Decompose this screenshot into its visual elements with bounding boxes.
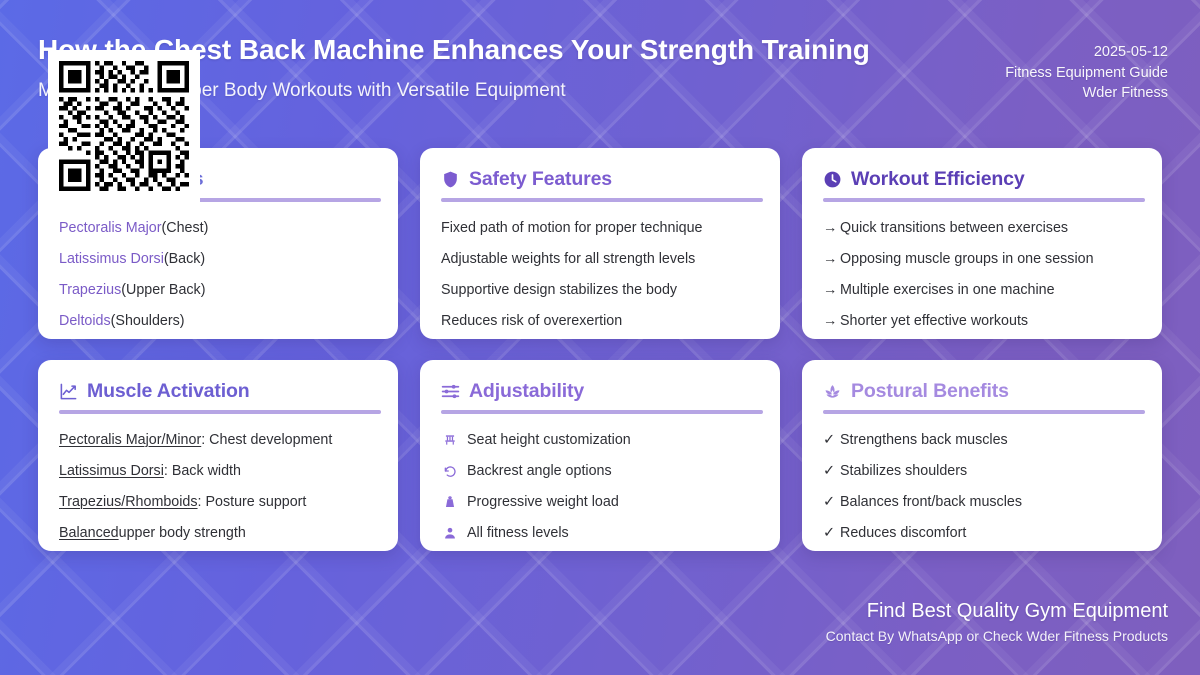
header-date: 2025-05-12 xyxy=(1005,42,1168,63)
list-item-text: : Posture support xyxy=(198,487,307,518)
person-icon xyxy=(441,524,459,542)
header-category: Fitness Equipment Guide xyxy=(1005,63,1168,84)
card-title: Safety Features xyxy=(469,168,612,191)
poster-header: How the Chest Back Machine Enhances Your… xyxy=(38,32,1168,104)
list-item-marker: → xyxy=(823,213,840,244)
list-item-marker: ✓ xyxy=(823,425,840,456)
list-item: Trapezius (Upper Back) xyxy=(59,275,377,306)
card-title-rule xyxy=(823,198,1145,202)
list-item: ✓Stabilizes shoulders xyxy=(823,456,1141,487)
list-item: Fixed path of motion for proper techniqu… xyxy=(441,213,759,244)
list-item: ✓Balances front/back muscles xyxy=(823,487,1141,518)
list-item-lead: Pectoralis Major xyxy=(59,213,162,244)
card-adjustability: AdjustabilitySeat height customizationBa… xyxy=(420,360,780,551)
list-item-text: : Back width xyxy=(164,456,241,487)
list-item-text: (Back) xyxy=(164,244,205,275)
list-item: Deltoids (Shoulders) xyxy=(59,306,377,337)
card-header: Workout Efficiency xyxy=(823,168,1141,191)
list-item-text: Adjustable weights for all strength leve… xyxy=(441,244,695,275)
seat-icon xyxy=(441,431,459,449)
list-item-text: (Chest) xyxy=(162,213,209,244)
card-item-list: Pectoralis Major (Chest)Latissimus Dorsi… xyxy=(59,213,377,337)
list-item-lead: Pectoralis Major/Minor xyxy=(59,425,201,456)
footer-primary-text: Find Best Quality Gym Equipment xyxy=(826,598,1168,624)
list-item: →Shorter yet effective workouts xyxy=(823,306,1141,337)
card-item-list: ✓Strengthens back muscles✓Stabilizes sho… xyxy=(823,425,1141,549)
list-item-text: Stabilizes shoulders xyxy=(840,456,967,487)
list-item-text: Strengthens back muscles xyxy=(840,425,1008,456)
card-title: Muscle Activation xyxy=(87,380,250,403)
list-item-marker: ✓ xyxy=(823,487,840,518)
list-item-marker: ✓ xyxy=(823,456,840,487)
list-item: →Quick transitions between exercises xyxy=(823,213,1141,244)
qr-code-icon xyxy=(59,61,189,191)
list-item-lead: Trapezius xyxy=(59,275,121,306)
card-header: Safety Features xyxy=(441,168,759,191)
card-item-list: Pectoralis Major/Minor: Chest developmen… xyxy=(59,425,377,549)
card-title: Workout Efficiency xyxy=(851,168,1025,191)
list-item-text: Fixed path of motion for proper techniqu… xyxy=(441,213,702,244)
list-item: All fitness levels xyxy=(441,518,759,549)
list-item: Pectoralis Major (Chest) xyxy=(59,213,377,244)
list-item-lead: Latissimus Dorsi xyxy=(59,244,164,275)
list-item-text: Reduces risk of overexertion xyxy=(441,306,622,337)
list-item: Latissimus Dorsi (Back) xyxy=(59,244,377,275)
card-title: Postural Benefits xyxy=(851,380,1009,403)
weight-icon xyxy=(441,493,459,511)
list-item: Reduces risk of overexertion xyxy=(441,306,759,337)
list-item-text: Progressive weight load xyxy=(467,487,619,518)
list-item-text: All fitness levels xyxy=(467,518,569,549)
card-header: Muscle Activation xyxy=(59,380,377,403)
list-item-text: upper body strength xyxy=(119,518,246,549)
list-item-text: Multiple exercises in one machine xyxy=(840,275,1055,306)
card-title-rule xyxy=(823,410,1145,414)
card-safety-features: Safety FeaturesFixed path of motion for … xyxy=(420,148,780,339)
list-item: Supportive design stabilizes the body xyxy=(441,275,759,306)
list-item-lead: Latissimus Dorsi xyxy=(59,456,164,487)
list-item-text: Backrest angle options xyxy=(467,456,612,487)
card-workout-efficiency: Workout Efficiency→Quick transitions bet… xyxy=(802,148,1162,339)
list-item-marker: → xyxy=(823,306,840,337)
list-item-marker: → xyxy=(823,275,840,306)
list-item-text: Supportive design stabilizes the body xyxy=(441,275,677,306)
list-item: Seat height customization xyxy=(441,425,759,456)
card-header: Postural Benefits xyxy=(823,380,1141,403)
list-item-text: Shorter yet effective workouts xyxy=(840,306,1028,337)
card-grid: Key MusclesPectoralis Major (Chest)Latis… xyxy=(38,148,1162,551)
list-item: Progressive weight load xyxy=(441,487,759,518)
chart-line-icon xyxy=(59,382,78,401)
list-item: ✓Strengthens back muscles xyxy=(823,425,1141,456)
card-postural-benefits: Postural Benefits✓Strengthens back muscl… xyxy=(802,360,1162,551)
card-item-list: Fixed path of motion for proper techniqu… xyxy=(441,213,759,337)
sliders-icon xyxy=(441,382,460,401)
list-item-lead: Balanced xyxy=(59,518,119,549)
header-brand: Wder Fitness xyxy=(1005,83,1168,104)
qr-code[interactable] xyxy=(48,50,200,202)
card-muscle-activation: Muscle ActivationPectoralis Major/Minor:… xyxy=(38,360,398,551)
header-meta-block: 2025-05-12 Fitness Equipment Guide Wder … xyxy=(1005,32,1168,104)
list-item: Adjustable weights for all strength leve… xyxy=(441,244,759,275)
card-item-list: Seat height customizationBackrest angle … xyxy=(441,425,759,549)
list-item: ✓Reduces discomfort xyxy=(823,518,1141,549)
card-item-list: →Quick transitions between exercises→Opp… xyxy=(823,213,1141,337)
list-item: →Multiple exercises in one machine xyxy=(823,275,1141,306)
list-item-text: Balances front/back muscles xyxy=(840,487,1022,518)
lotus-icon xyxy=(823,382,842,401)
list-item: Balanced upper body strength xyxy=(59,518,377,549)
clock-icon xyxy=(823,170,842,189)
card-title: Adjustability xyxy=(469,380,584,403)
list-item-text: (Upper Back) xyxy=(121,275,205,306)
list-item: Backrest angle options xyxy=(441,456,759,487)
list-item: Latissimus Dorsi: Back width xyxy=(59,456,377,487)
list-item-text: : Chest development xyxy=(201,425,332,456)
list-item: →Opposing muscle groups in one session xyxy=(823,244,1141,275)
list-item-text: Quick transitions between exercises xyxy=(840,213,1068,244)
list-item-text: Reduces discomfort xyxy=(840,518,966,549)
card-header: Adjustability xyxy=(441,380,759,403)
list-item: Pectoralis Major/Minor: Chest developmen… xyxy=(59,425,377,456)
list-item-text: Opposing muscle groups in one session xyxy=(840,244,1094,275)
poster-canvas: How the Chest Back Machine Enhances Your… xyxy=(0,0,1200,675)
list-item-lead: Deltoids xyxy=(59,306,111,337)
shield-icon xyxy=(441,170,460,189)
list-item-text: (Shoulders) xyxy=(111,306,185,337)
card-title-rule xyxy=(59,410,381,414)
list-item-marker: → xyxy=(823,244,840,275)
poster-footer: Find Best Quality Gym Equipment Contact … xyxy=(826,598,1168,646)
card-title-rule xyxy=(441,198,763,202)
list-item-lead: Trapezius/Rhomboids xyxy=(59,487,198,518)
list-item: Trapezius/Rhomboids: Posture support xyxy=(59,487,377,518)
undo-arrow-icon xyxy=(441,462,459,480)
card-title-rule xyxy=(441,410,763,414)
list-item-marker: ✓ xyxy=(823,518,840,549)
list-item-text: Seat height customization xyxy=(467,425,631,456)
footer-secondary-text: Contact By WhatsApp or Check Wder Fitnes… xyxy=(826,627,1168,646)
